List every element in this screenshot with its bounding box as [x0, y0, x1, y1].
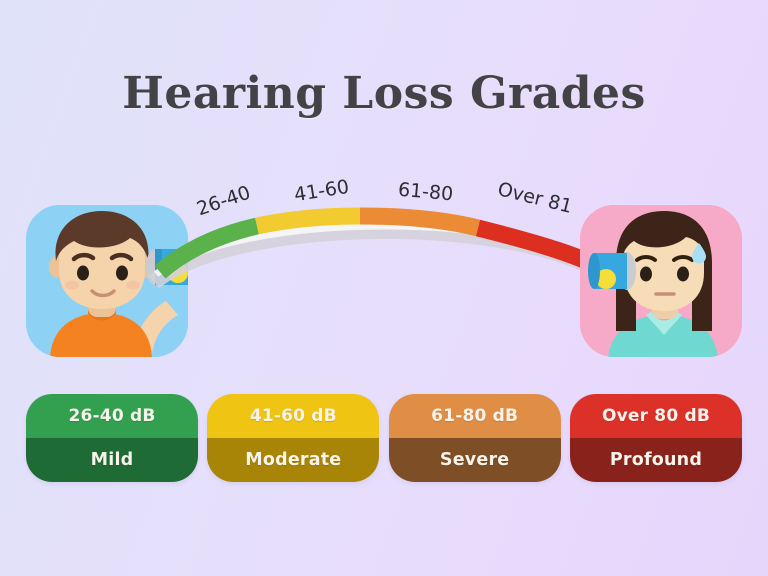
illustration-girl-panel — [580, 205, 742, 357]
grade-card-severe[interactable]: 61-80 dB Severe — [389, 394, 561, 482]
infographic-canvas: Hearing Loss Grades — [0, 0, 768, 576]
arc-segment-moderate — [257, 216, 360, 226]
grade-card-mild[interactable]: 26-40 dB Mild — [26, 394, 198, 482]
grade-card-range: 26-40 dB — [26, 394, 198, 438]
grade-card-label: Mild — [26, 438, 198, 482]
grade-card-label: Severe — [389, 438, 561, 482]
grade-card-label: Moderate — [207, 438, 379, 482]
grade-card-list: 26-40 dB Mild 41-60 dB Moderate 61-80 dB… — [26, 394, 742, 482]
grade-card-range: 61-80 dB — [389, 394, 561, 438]
grade-card-profound[interactable]: Over 80 dB Profound — [570, 394, 742, 482]
grade-card-label: Profound — [570, 438, 742, 482]
grade-card-range: Over 80 dB — [570, 394, 742, 438]
page-title: Hearing Loss Grades — [0, 68, 768, 119]
grade-card-range: 41-60 dB — [207, 394, 379, 438]
arc-label-61-80: 61-80 — [397, 179, 454, 206]
girl-illustration — [580, 205, 742, 357]
grade-card-moderate[interactable]: 41-60 dB Moderate — [207, 394, 379, 482]
